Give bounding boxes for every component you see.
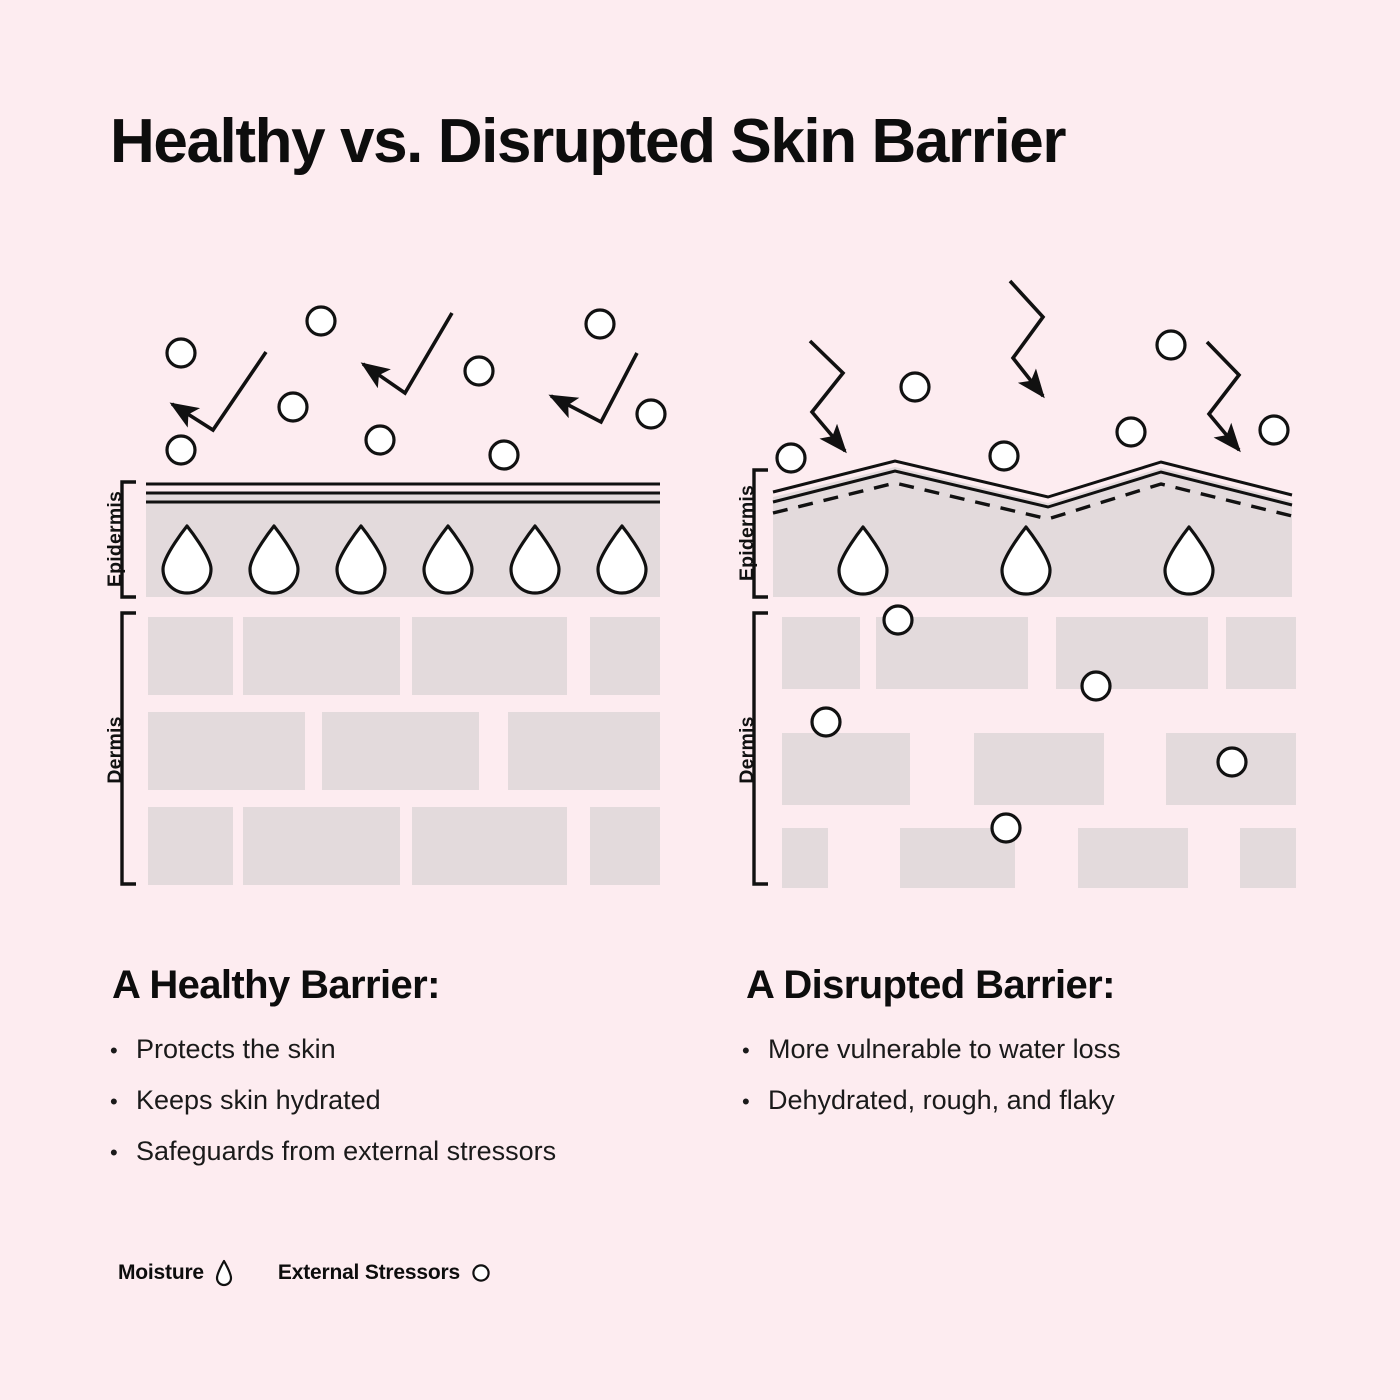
dermis-bricks-left: [148, 617, 660, 885]
deflected-arrows-left: [172, 313, 637, 430]
bullet-dot-icon: •: [110, 1142, 136, 1164]
list-item: • More vulnerable to water loss: [742, 1036, 1121, 1063]
barrier-dashed-line-right: [773, 483, 1292, 519]
dermis-bricks-right: [782, 617, 1296, 888]
disrupted-barrier-bullets: • More vulnerable to water loss • Dehydr…: [742, 1036, 1121, 1138]
bullet-dot-icon: •: [110, 1040, 136, 1062]
list-item: • Dehydrated, rough, and flaky: [742, 1087, 1121, 1114]
page-title: Healthy vs. Disrupted Skin Barrier: [110, 106, 1065, 177]
dermis-bracket-left: [122, 613, 136, 884]
stressor-circles-inside-right: [812, 606, 1246, 842]
bullet-dot-icon: •: [110, 1091, 136, 1113]
dermis-label-left: Dermis: [104, 716, 126, 783]
epidermis-label-left: Epidermis: [104, 491, 126, 587]
stressor-circles-above-right: [777, 331, 1288, 472]
list-item: • Safeguards from external stressors: [110, 1138, 556, 1165]
healthy-panel-graphic: Epidermis Dermis: [104, 307, 665, 885]
list-item: • Protects the skin: [110, 1036, 556, 1063]
bullet-dot-icon: •: [742, 1091, 768, 1113]
epidermis-bracket-left: [122, 482, 136, 597]
penetrating-arrows-right: [810, 281, 1239, 451]
list-item-label: More vulnerable to water loss: [768, 1036, 1121, 1063]
moisture-droplets-right: [839, 527, 1213, 594]
stressor-circles-left: [167, 307, 665, 469]
disrupted-barrier-heading: A Disrupted Barrier:: [746, 963, 1115, 1008]
circle-icon: [470, 1262, 492, 1284]
bullet-dot-icon: •: [742, 1040, 768, 1062]
droplet-icon: [214, 1258, 234, 1288]
healthy-barrier-heading: A Healthy Barrier:: [112, 963, 440, 1008]
moisture-droplets-left: [163, 526, 646, 593]
list-item-label: Safeguards from external stressors: [136, 1138, 556, 1165]
barrier-lines-left: [146, 484, 660, 502]
list-item: • Keeps skin hydrated: [110, 1087, 556, 1114]
list-item-label: Protects the skin: [136, 1036, 336, 1063]
epidermis-label-right: Epidermis: [736, 485, 758, 581]
legend: Moisture External Stressors: [118, 1258, 492, 1288]
disrupted-panel-graphic: Epidermis Dermis: [736, 281, 1296, 888]
legend-item-moisture: Moisture: [118, 1258, 234, 1288]
legend-label-external-stressors: External Stressors: [278, 1261, 460, 1285]
skin-barrier-diagram: Epidermis Dermis: [0, 0, 1400, 1400]
list-item-label: Keeps skin hydrated: [136, 1087, 381, 1114]
barrier-lines-right: [773, 461, 1292, 507]
legend-item-external-stressors: External Stressors: [278, 1261, 492, 1285]
dermis-bracket-right: [754, 613, 768, 884]
epidermis-layer-left: [146, 494, 660, 597]
epidermis-bracket-right: [754, 470, 768, 597]
legend-label-moisture: Moisture: [118, 1261, 204, 1285]
healthy-barrier-bullets: • Protects the skin • Keeps skin hydrate…: [110, 1036, 556, 1189]
list-item-label: Dehydrated, rough, and flaky: [768, 1087, 1115, 1114]
dermis-label-right: Dermis: [736, 716, 758, 783]
epidermis-layer-right: [773, 467, 1292, 597]
infographic-page: Healthy vs. Disrupted Skin Barrier Epide…: [0, 0, 1400, 1400]
